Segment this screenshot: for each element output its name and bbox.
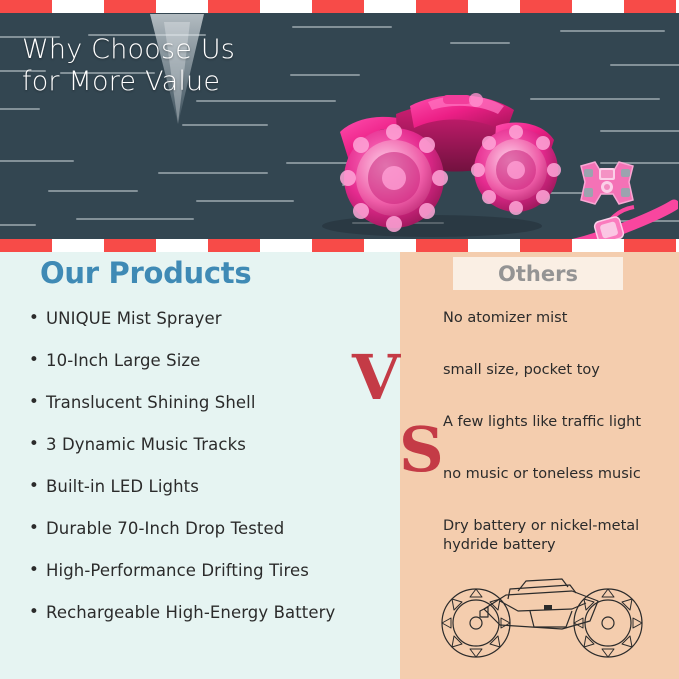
header-road-banner: Why Choose Us for More Value — [0, 12, 679, 240]
vs-letter-v: V — [352, 347, 400, 409]
list-item: No atomizer mist — [443, 309, 679, 328]
others-title-box: Others — [453, 257, 623, 290]
list-item-label: 3 Dynamic Music Tracks — [46, 434, 397, 455]
bullet-icon: • — [22, 350, 46, 371]
list-item-label: Translucent Shining Shell — [46, 392, 397, 413]
page-title-line2: for More Value — [22, 66, 235, 98]
list-item: • Durable 70-Inch Drop Tested — [22, 518, 397, 539]
list-item: Dry battery or nickel-metal hydride batt… — [443, 517, 679, 555]
list-item-label: Rechargeable High-Energy Battery — [46, 602, 397, 623]
lane-dash — [76, 218, 194, 220]
list-item-label: UNIQUE Mist Sprayer — [46, 308, 397, 329]
rear-wheel — [340, 124, 448, 232]
bullet-icon: • — [22, 476, 46, 497]
checkered-strip-bottom — [0, 239, 679, 252]
our-products-list: • UNIQUE Mist Sprayer • 10-Inch Large Si… — [22, 308, 397, 644]
lane-dash — [196, 200, 294, 202]
lane-dash — [0, 160, 74, 162]
bullet-icon: • — [22, 560, 46, 581]
list-item: • 10-Inch Large Size — [22, 350, 397, 371]
comparison-body: Our Products • UNIQUE Mist Sprayer • 10-… — [0, 252, 679, 679]
list-item: A few lights like traffic light — [443, 413, 679, 432]
lane-dash — [292, 26, 392, 28]
vs-letter-s: S — [399, 419, 444, 481]
lane-dash — [0, 108, 40, 110]
lane-dash — [0, 224, 36, 226]
list-item-label: 10-Inch Large Size — [46, 350, 397, 371]
our-products-title: Our Products — [40, 256, 251, 290]
lane-dash — [48, 190, 138, 192]
outline-car-illustration — [422, 567, 657, 667]
pink-rc-stunt-car — [300, 40, 565, 240]
bullet-icon: • — [22, 434, 46, 455]
list-item: • Rechargeable High-Energy Battery — [22, 602, 397, 623]
list-item: • Built-in LED Lights — [22, 476, 397, 497]
list-item: • Translucent Shining Shell — [22, 392, 397, 413]
lane-dash — [600, 130, 679, 132]
checkered-strip-top — [0, 0, 679, 13]
bullet-icon: • — [22, 392, 46, 413]
our-products-panel: Our Products • UNIQUE Mist Sprayer • 10-… — [0, 252, 400, 679]
bullet-icon: • — [22, 308, 46, 329]
list-item-label: Durable 70-Inch Drop Tested — [46, 518, 397, 539]
lane-dash — [560, 30, 665, 32]
list-item: no music or toneless music — [443, 465, 679, 484]
list-item: • 3 Dynamic Music Tracks — [22, 434, 397, 455]
bullet-icon: • — [22, 602, 46, 623]
others-title: Others — [498, 262, 578, 286]
list-item: • High-Performance Drifting Tires — [22, 560, 397, 581]
comparison-infographic: Why Choose Us for More Value — [0, 0, 679, 679]
list-item-label: High-Performance Drifting Tires — [46, 560, 397, 581]
others-list: No atomizer mist small size, pocket toy … — [443, 309, 679, 588]
page-title: Why Choose Us for More Value — [22, 34, 235, 98]
bullet-icon: • — [22, 518, 46, 539]
lane-dash — [158, 172, 268, 174]
page-title-line1: Why Choose Us — [22, 34, 235, 66]
list-item: small size, pocket toy — [443, 361, 679, 380]
list-item: • UNIQUE Mist Sprayer — [22, 308, 397, 329]
lane-dash — [610, 64, 679, 66]
pink-gesture-watch-controller — [548, 197, 678, 240]
list-item-label: Built-in LED Lights — [46, 476, 397, 497]
